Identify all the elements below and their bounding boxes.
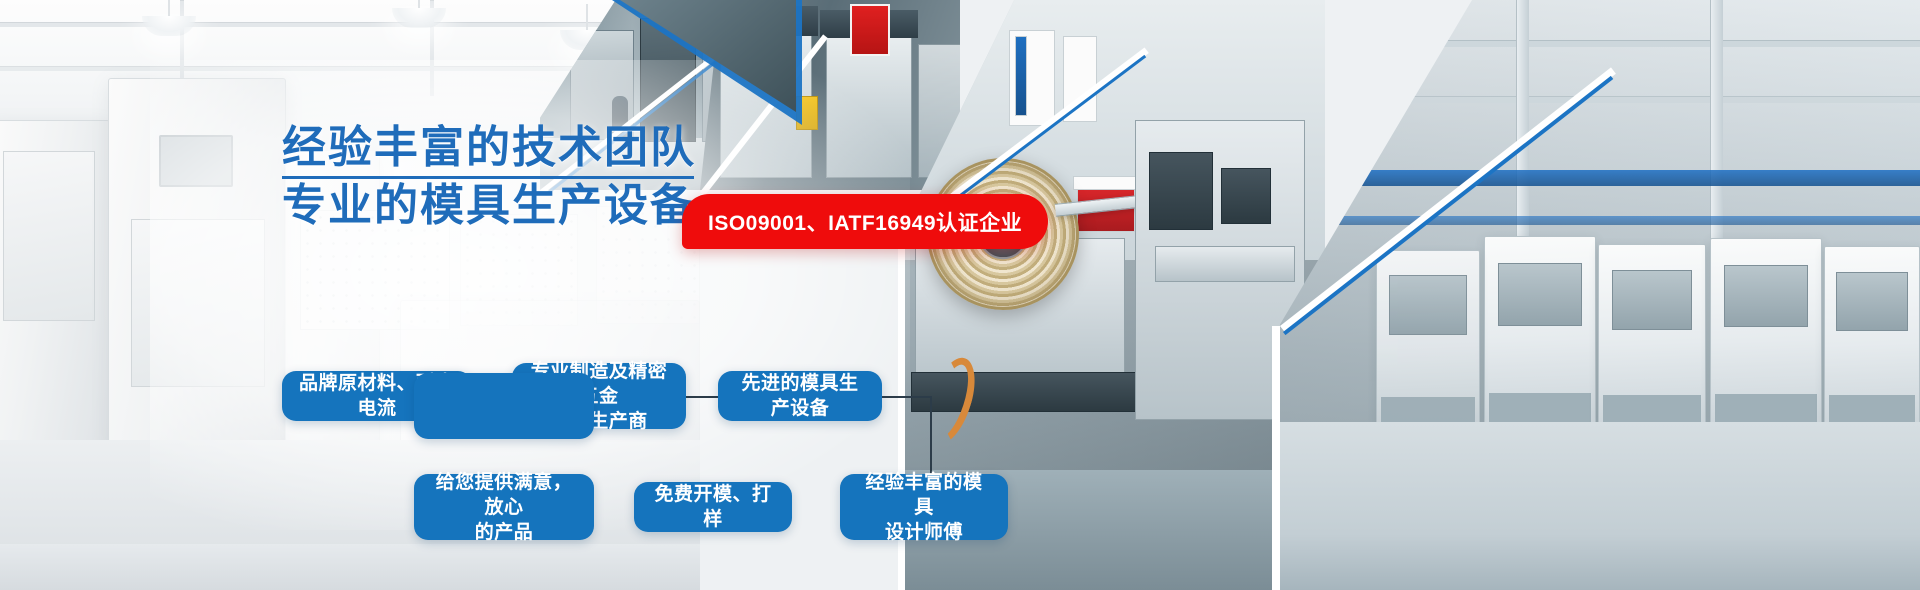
promo-banner: 经验丰富的技术团队 专业的模具生产设备 ISO09001、IATF16949认证… xyxy=(0,0,1920,590)
cell-window xyxy=(1724,265,1808,328)
control-console xyxy=(1155,246,1295,282)
headline-line-1: 经验丰富的技术团队 xyxy=(282,122,712,174)
panel-seam-vertical xyxy=(1272,326,1280,590)
feature-box-r2-3-label: 经验丰富的模具 设计师傅 xyxy=(856,470,992,545)
ceiling-beam xyxy=(0,22,700,27)
connector-r1-2-3 xyxy=(684,396,720,398)
machine-cell xyxy=(1376,250,1480,426)
hall-ceiling-beam xyxy=(1280,40,1920,47)
machine-cell xyxy=(1710,238,1822,424)
hall-ceiling-beam xyxy=(1280,96,1920,103)
headline-block: 经验丰富的技术团队 专业的模具生产设备 xyxy=(282,122,712,232)
cell-base xyxy=(1381,397,1475,425)
feeder-motor xyxy=(1221,168,1271,224)
cell-base xyxy=(1489,393,1590,423)
iso-certification-badge: ISO09001、IATF16949认证企业 xyxy=(682,194,1048,249)
wall-sign-blue xyxy=(1015,36,1027,116)
headline-line-2: 专业的模具生产设备 xyxy=(282,180,712,232)
cell-window xyxy=(1389,275,1467,334)
feature-box-r2-2-label: 免费开模、打样 xyxy=(650,482,776,532)
machine-door xyxy=(131,219,265,387)
cell-window xyxy=(1612,270,1693,331)
blue-rail xyxy=(1280,216,1920,225)
feature-box-r1-3-label: 先进的模具生产设备 xyxy=(734,371,866,421)
feature-box-r2-1-label: 给您提供满意，放心 的产品 xyxy=(430,470,578,545)
cell-base xyxy=(1603,395,1701,423)
cell-window xyxy=(1498,263,1582,326)
sign-header xyxy=(1073,176,1143,190)
connector-r1-3-elbow xyxy=(880,396,932,398)
machine-cell xyxy=(1824,246,1920,424)
headline-divider-rule xyxy=(282,176,694,179)
machine-cell xyxy=(1484,236,1596,424)
iso-badge-label: ISO09001、IATF16949认证企业 xyxy=(708,207,1022,237)
cnc-machine xyxy=(0,120,110,450)
floor-shadow xyxy=(1280,534,1920,590)
feature-box-r2-1[interactable]: 给您提供满意，放心 的产品 xyxy=(414,474,594,540)
floor-strip xyxy=(0,544,700,590)
cell-base xyxy=(1829,395,1915,423)
cnc-machine-main xyxy=(108,78,286,450)
feature-box-r2-1-placeholder xyxy=(414,373,594,439)
machine-cell xyxy=(1598,244,1706,424)
machine-door xyxy=(3,151,95,321)
feature-box-r2-3[interactable]: 经验丰富的模具 设计师傅 xyxy=(840,474,1008,540)
cell-base xyxy=(1715,394,1816,423)
feeder-motor xyxy=(1149,152,1213,230)
red-warning-sign xyxy=(850,4,890,56)
feature-box-r2-2[interactable]: 免费开模、打样 xyxy=(634,482,792,532)
machine-screen xyxy=(159,135,233,187)
feature-box-r1-3[interactable]: 先进的模具生产设备 xyxy=(718,371,882,421)
blue-ceiling-rail xyxy=(1280,170,1920,186)
cell-window xyxy=(1836,272,1907,332)
